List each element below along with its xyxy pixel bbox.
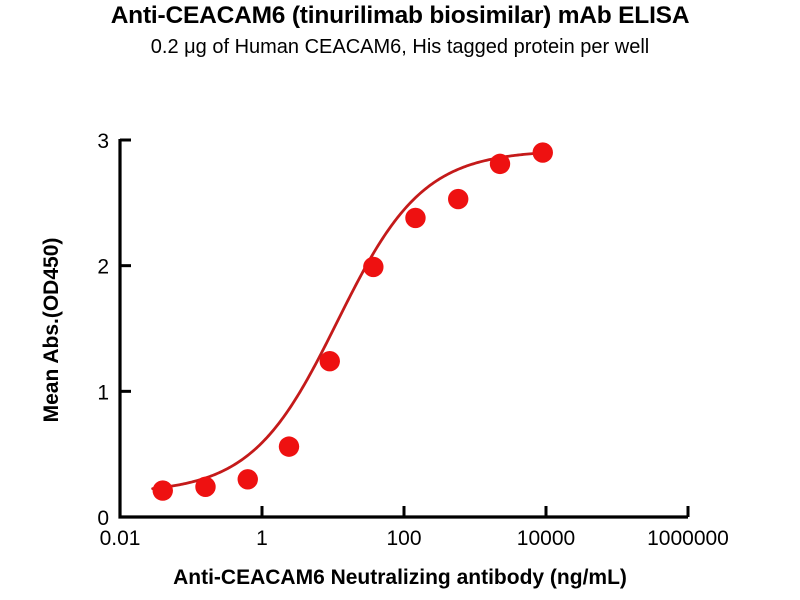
x-tick-label-4: 1000000 <box>647 527 729 550</box>
data-point-2 <box>238 469 258 489</box>
data-points <box>153 142 553 500</box>
y-tick-label-0: 0 <box>97 507 109 530</box>
x-tick-label-1: 1 <box>256 527 268 550</box>
data-point-7 <box>448 189 468 209</box>
y-axis-title: Mean Abs.(OD450) <box>40 215 64 445</box>
plot-area: 0.0111001000010000000123 <box>0 0 800 600</box>
axis-spines <box>120 139 688 517</box>
data-point-3 <box>279 436 299 456</box>
elisa-chart-figure: Anti-CEACAM6 (tinurilimab biosimilar) mA… <box>0 0 800 600</box>
axes <box>120 139 688 517</box>
data-point-6 <box>405 208 425 228</box>
y-tick-label-3: 3 <box>97 130 109 153</box>
data-point-8 <box>490 154 510 174</box>
data-point-5 <box>363 257 383 277</box>
y-tick-label-2: 2 <box>97 256 109 279</box>
x-tick-label-0: 0.01 <box>100 527 141 550</box>
fit-curve <box>153 153 544 489</box>
x-tick-label-2: 100 <box>386 527 421 550</box>
data-point-4 <box>320 351 340 371</box>
y-tick-label-1: 1 <box>97 381 109 404</box>
axis-tick-labels: 0.0111001000010000000123 <box>97 130 729 550</box>
data-point-0 <box>153 480 173 500</box>
axis-ticks <box>120 140 688 517</box>
x-tick-label-3: 10000 <box>517 527 575 550</box>
data-point-9 <box>533 142 553 162</box>
data-point-1 <box>195 477 215 497</box>
fit-curve-path <box>153 153 544 489</box>
x-axis-title: Anti-CEACAM6 Neutralizing antibody (ng/m… <box>0 566 800 590</box>
